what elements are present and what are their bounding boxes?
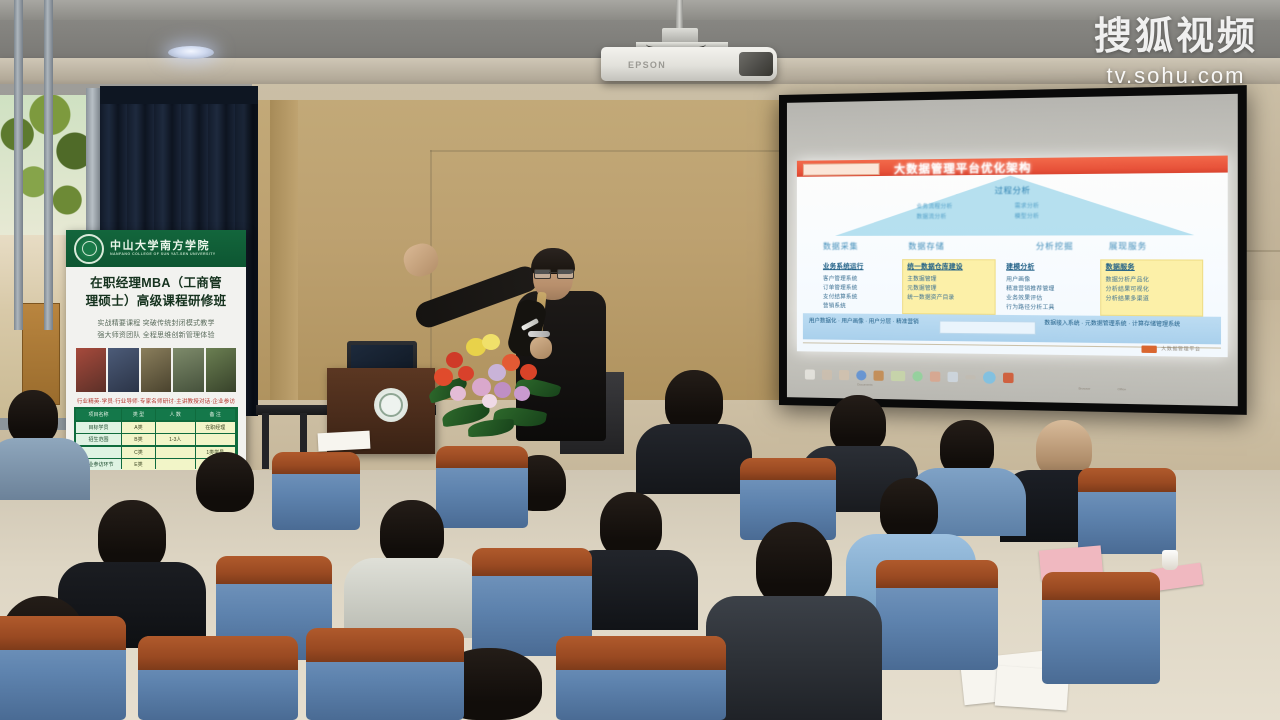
paper-cup[interactable] xyxy=(1162,550,1178,570)
wood-panel-seam xyxy=(270,100,298,400)
university-logo-icon xyxy=(74,234,104,264)
slide-header-store: 数据存储 xyxy=(908,241,944,252)
banner-red-note: 行业精英·学员·行业导师·专家名师研讨·主讲教授对话·企业参访 xyxy=(74,397,238,405)
audience-head xyxy=(196,452,254,512)
banner-photo xyxy=(76,348,106,392)
audience-shoulders xyxy=(344,558,480,638)
audience-head xyxy=(880,478,938,540)
speaker-glasses xyxy=(534,269,572,277)
windows-start-icon[interactable] xyxy=(805,369,815,379)
table-header-row: 项目名称 类 型 人 数 备 注 xyxy=(76,409,236,420)
seat-top xyxy=(472,548,592,576)
seat-top xyxy=(436,446,528,468)
banner-title-line1: 在职经理MBA（工商管 xyxy=(72,274,240,292)
slide-top-row-left2: 数据流分析 xyxy=(917,212,947,220)
banner-photo xyxy=(108,348,138,392)
audience-head xyxy=(600,492,662,558)
table-row: 目标学员 A类 在职经理 xyxy=(76,422,236,433)
slide-title-tab xyxy=(803,163,880,176)
banner-title-line2: 理硕士）高级课程研修班 xyxy=(72,292,240,310)
slide-top-label: 过程分析 xyxy=(960,185,1066,197)
banner-title: 在职经理MBA（工商管 理硕士）高级课程研修班 xyxy=(72,274,240,310)
audience-shoulders xyxy=(706,596,882,720)
slide-title: 大数据管理平台优化架构 xyxy=(894,158,1137,175)
seat-top xyxy=(1078,468,1176,492)
seat-top xyxy=(0,616,126,650)
audience-head xyxy=(665,370,723,432)
seat-top xyxy=(138,636,298,670)
slide-bottom-right-text: 数据接入系统 · 元数据管理系统 · 计算存储管理系统 xyxy=(1044,319,1207,330)
banner-sub-line2: 强大师资团队 全程思维创新管理体验 xyxy=(74,330,238,342)
slide-column-service: 数据服务 数据分析产品化 分析结果可视化 分析结果多渠道 xyxy=(1106,263,1198,305)
audience-head xyxy=(830,395,886,453)
browser-shortcut-icon[interactable] xyxy=(822,370,832,380)
audience-head xyxy=(756,522,832,606)
lecture-hall-screenshot: 中山大学南方学院 NANFANG COLLEGE OF SUN YAT-SEN … xyxy=(0,0,1280,720)
slide-footer-logo-text: 大数据管理平台 xyxy=(1161,346,1200,353)
banner-subtitle: 实战精要课程 突破传统封闭模式教学 强大师资团队 全程思维创新管理体验 xyxy=(74,318,238,343)
audience-head xyxy=(380,500,444,566)
file-explorer-icon[interactable] xyxy=(891,371,905,381)
ceiling-light xyxy=(168,46,214,59)
slide-bottom-center-field xyxy=(939,321,1036,335)
seat-top xyxy=(876,560,998,588)
banner-photo xyxy=(206,348,236,392)
slide-column-heading: 数据服务 xyxy=(1106,263,1198,274)
banner-photo-strip xyxy=(76,348,236,392)
flower-arrangement xyxy=(432,334,554,442)
banner-photo xyxy=(173,348,203,392)
university-emblem-icon xyxy=(374,388,408,422)
slide-header-collect: 数据采集 xyxy=(823,241,859,252)
slide-bottom-left-text: 用户数据化 · 用户画像 · 用户分层 · 精准营销 xyxy=(809,317,931,328)
qq-browser-icon[interactable] xyxy=(983,371,996,384)
ceiling-edge xyxy=(0,0,1280,20)
projector-mount-rod xyxy=(676,0,683,30)
projection-screen: 大数据管理平台优化架构 过程分析 业务流程分析 需求分析 数据流分析 模型分析 … xyxy=(779,85,1247,415)
seat-top xyxy=(216,556,332,584)
window-mullion-left xyxy=(14,0,23,330)
slide-top-row-right2: 模型分析 xyxy=(1015,212,1040,220)
slide-header-serve: 展现服务 xyxy=(1109,241,1147,253)
window-mullion-mid xyxy=(44,0,53,330)
mail-icon[interactable] xyxy=(948,372,958,382)
slide-column-heading: 建模分析 xyxy=(1006,262,1094,273)
projector-brand-label: EPSON xyxy=(628,60,666,70)
seat-top xyxy=(272,452,360,474)
audience-head xyxy=(8,390,58,444)
banner-university-cn: 中山大学南方学院 xyxy=(110,240,210,252)
table-leg xyxy=(262,413,269,469)
chat-app-icon[interactable] xyxy=(912,371,922,381)
tools-icon[interactable] xyxy=(930,371,940,381)
desktop-icon-label: Documents xyxy=(857,382,872,386)
curtain-rail xyxy=(100,86,258,104)
desktop-icon-label: Office xyxy=(1118,387,1126,391)
presentation-slide: 大数据管理平台优化架构 过程分析 业务流程分析 需求分析 数据流分析 模型分析 … xyxy=(797,156,1228,358)
slide-footer-logo-icon xyxy=(1141,346,1156,354)
projection-surface: 大数据管理平台优化架构 过程分析 业务流程分析 需求分析 数据流分析 模型分析 … xyxy=(787,94,1238,406)
user-folder-icon[interactable] xyxy=(874,371,884,381)
seat-top xyxy=(1042,572,1160,600)
mba-program-banner: 中山大学南方学院 NANFANG COLLEGE OF SUN YAT-SEN … xyxy=(66,230,246,470)
projector-lens xyxy=(739,52,773,76)
desktop-taskbar[interactable] xyxy=(797,365,1237,391)
table-row: 招生范围 B类 1-3人 xyxy=(76,434,236,445)
banner-photo xyxy=(141,348,171,392)
slide-column-collect: 业务系统运行 客户管理系统 订单管理系统 支付结算系统 营销系统 xyxy=(823,262,898,312)
banner-university-name: 中山大学南方学院 NANFANG COLLEGE OF SUN YAT-SEN … xyxy=(110,240,216,256)
banner-sub-line1: 实战精要课程 突破传统封闭模式教学 xyxy=(74,318,238,330)
desktop-icon-label: Browser xyxy=(1079,386,1091,390)
banner-header: 中山大学南方学院 NANFANG COLLEGE OF SUN YAT-SEN … xyxy=(66,230,246,267)
slide-column-heading: 统一数据仓库建设 xyxy=(907,262,990,273)
seat-top xyxy=(556,636,726,670)
seat-top xyxy=(740,458,836,480)
slide-column-heading: 业务系统运行 xyxy=(823,262,898,273)
powerpoint-icon[interactable] xyxy=(1003,373,1014,383)
desk-paper[interactable] xyxy=(318,431,371,452)
slide-top-row-right: 需求分析 xyxy=(1015,201,1040,209)
slide-column-analyze: 建模分析 用户画像 精准营销推荐管理 业务效果评估 行为路径分析工具 xyxy=(1006,262,1094,313)
audience-shoulders xyxy=(0,438,90,500)
slide-column-store: 统一数据仓库建设 主数据管理 元数据管理 统一数据资产目录 xyxy=(907,262,990,303)
slide-top-row-left: 业务流程分析 xyxy=(917,202,953,210)
seat-top xyxy=(306,628,464,662)
banner-university-en: NANFANG COLLEGE OF SUN YAT-SEN UNIVERSIT… xyxy=(110,253,216,257)
media-player-icon[interactable] xyxy=(839,370,849,380)
audience-shoulders xyxy=(636,424,752,494)
slide-header-analyze: 分析挖掘 xyxy=(1036,241,1074,252)
ie-browser-icon[interactable] xyxy=(856,370,866,380)
placeholder-icon[interactable] xyxy=(965,375,975,379)
